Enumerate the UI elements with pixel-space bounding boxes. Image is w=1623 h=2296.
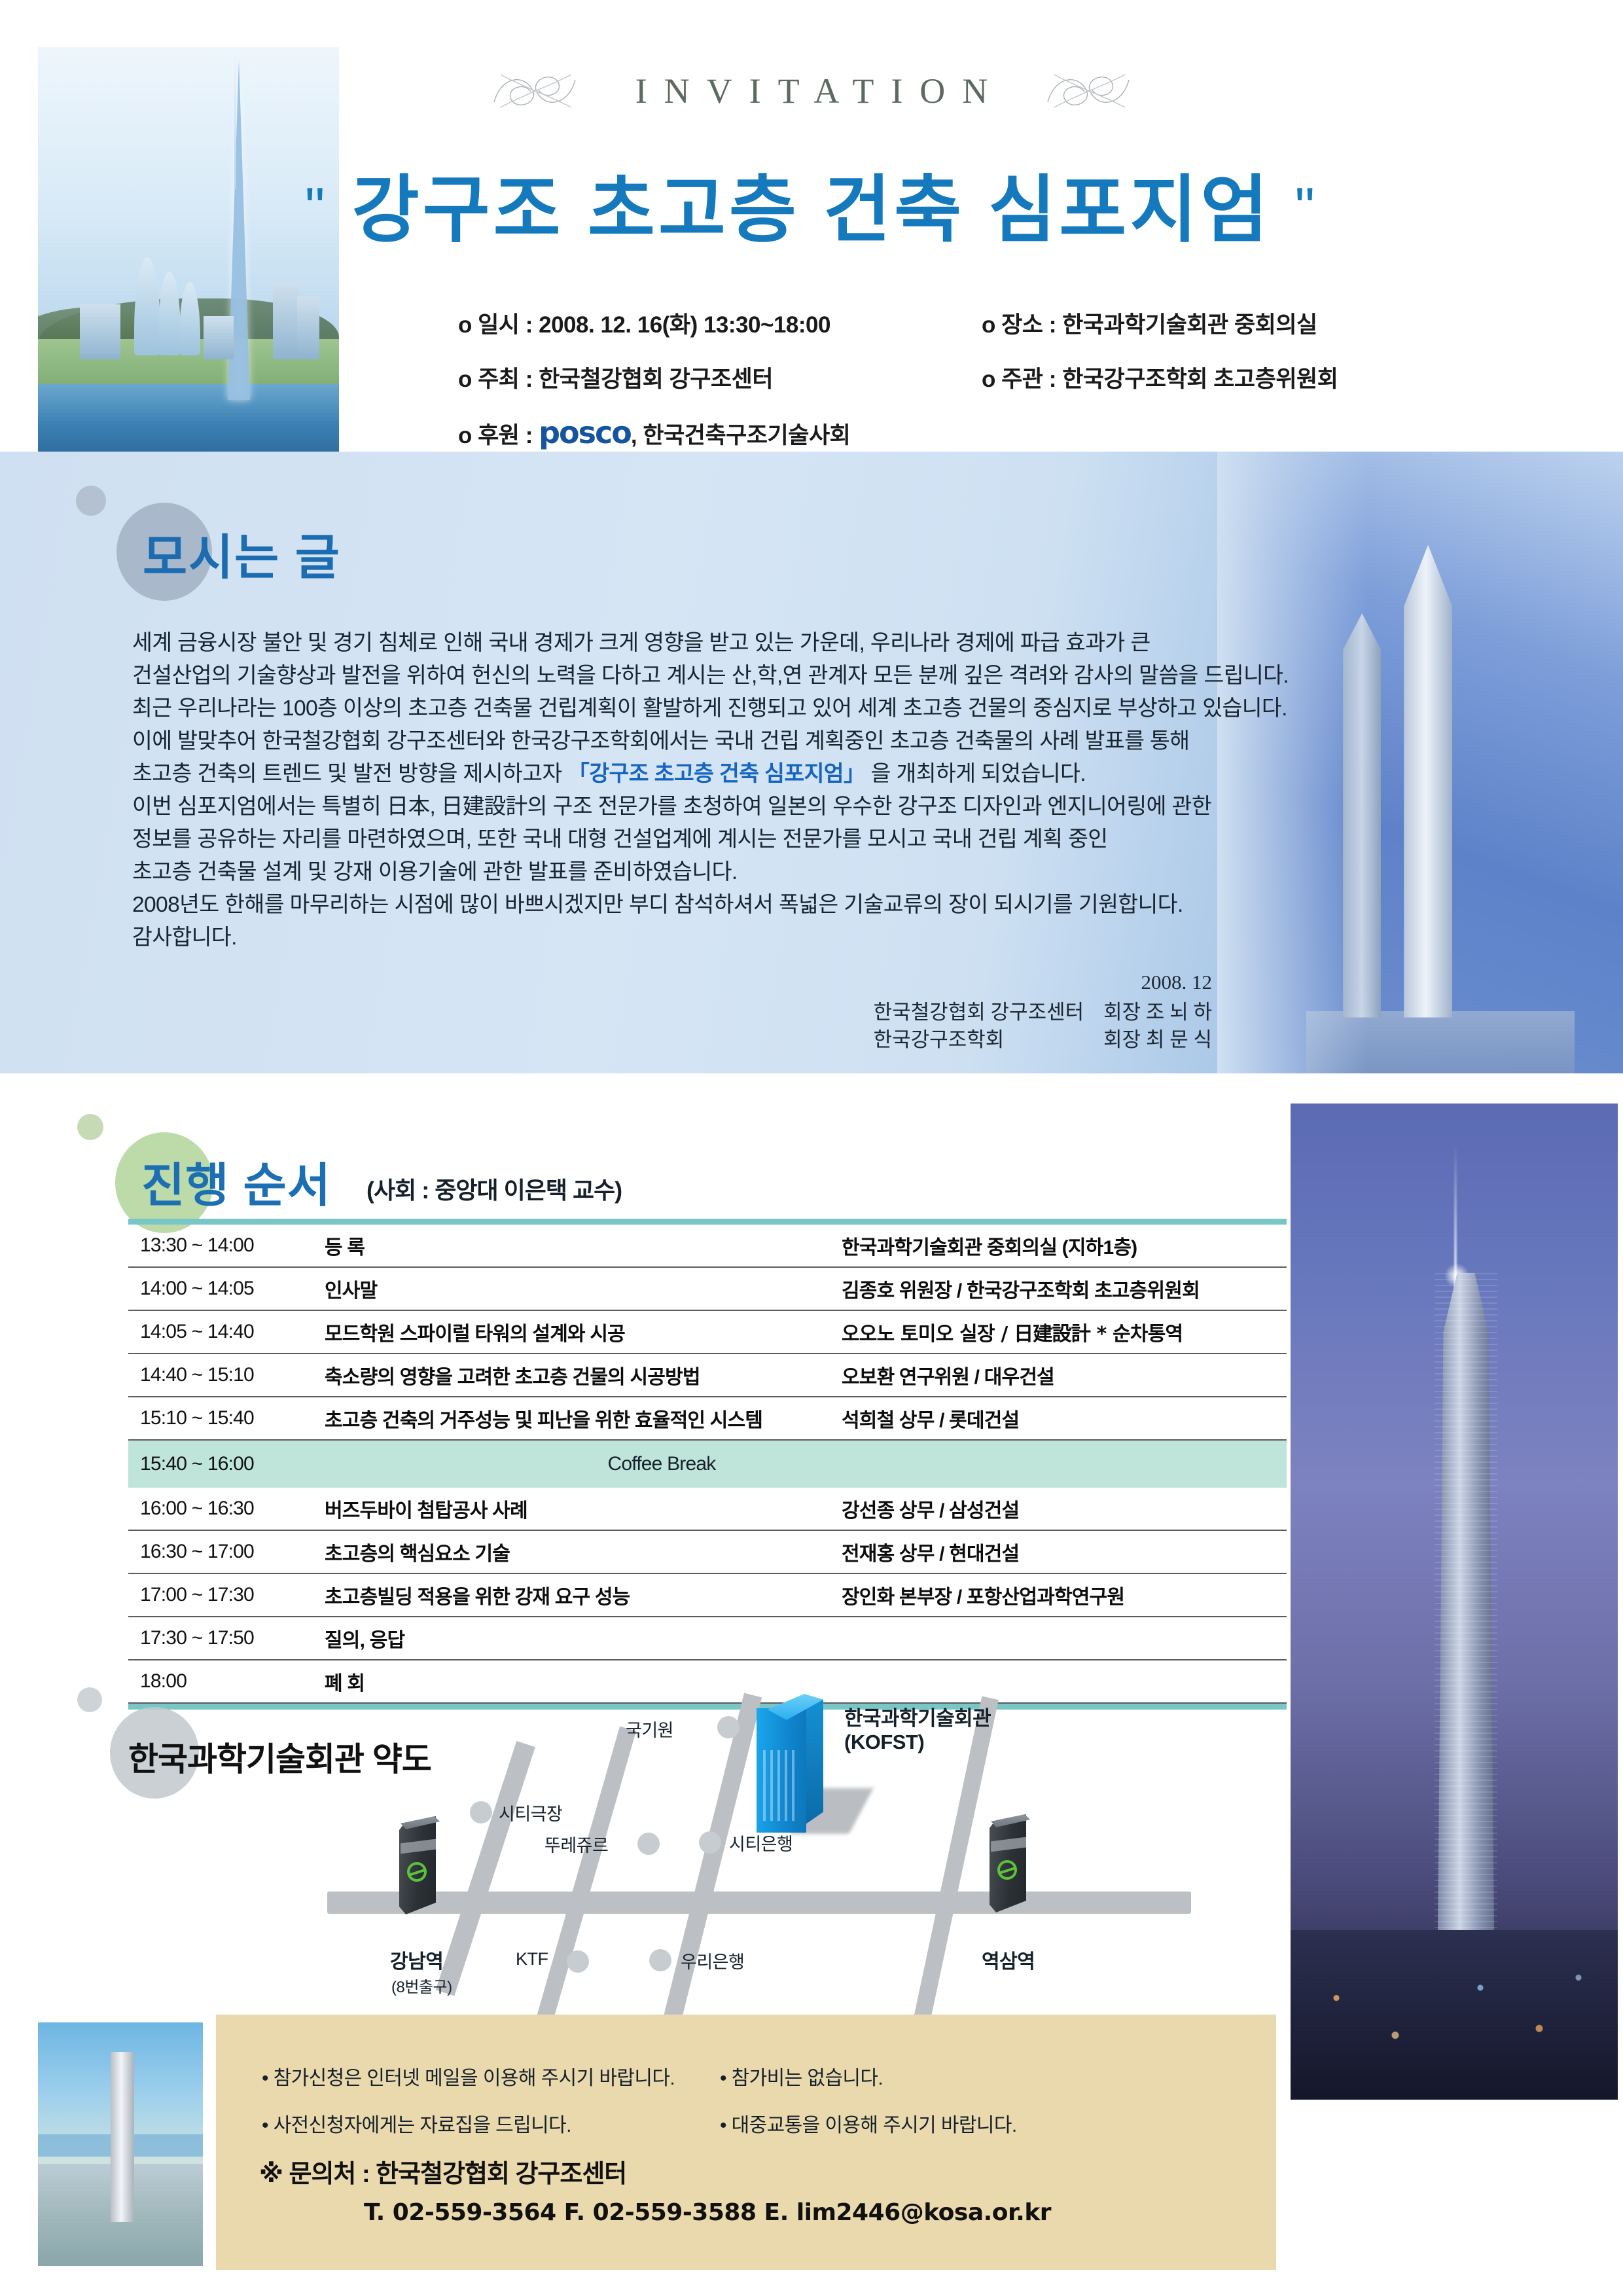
row-time: 13:30 ~ 14:00 bbox=[128, 1234, 325, 1257]
table-row: 14:40 ~ 15:10 축소량의 영향을 고려한 초고층 건물의 시공방법 … bbox=[128, 1354, 1287, 1397]
row-speaker: 석희철 상무 / 롯데건설 bbox=[842, 1404, 1287, 1433]
greeting-line: 최근 우리나라는 100층 이상의 초고층 건축물 건립계획이 활발하게 진행되… bbox=[132, 692, 1153, 725]
greeting-line: 이번 심포지엄에서는 특별히 日本, 日建設計의 구조 전문가를 초청하여 일본… bbox=[132, 791, 1153, 823]
posco-logo: posco bbox=[539, 415, 631, 450]
row-speaker: 오오노 토미오 실장 / 日建設計 * 순차통역 bbox=[842, 1318, 1287, 1346]
page-title: " 강구조 초고층 건축 심포지엄 " bbox=[0, 151, 1623, 257]
table-row: 14:05 ~ 14:40 모드학원 스파이럴 타워의 설계와 시공 오오노 토… bbox=[128, 1311, 1287, 1354]
map-road-main bbox=[327, 1892, 1191, 1914]
highlight-prefix: 초고층 건축의 트렌드 및 발전 방향을 제시하고자 bbox=[132, 762, 567, 786]
poi-dot-gukgiwon bbox=[717, 1716, 740, 1738]
signature-name: 회장 조 뇌 하 bbox=[1084, 999, 1212, 1026]
table-row: 16:30 ~ 17:00 초고층의 핵심요소 기술 전재홍 상무 / 현대건설 bbox=[128, 1531, 1287, 1574]
decor-dot-small bbox=[76, 486, 106, 516]
poi-dot-city-theater bbox=[470, 1801, 492, 1823]
greeting-line: 건설산업의 기술향상과 발전을 위하여 헌신의 노력을 다하고 계시는 산,학,… bbox=[132, 660, 1153, 692]
row-time: 17:30 ~ 17:50 bbox=[128, 1627, 325, 1649]
meta-sponsor: o 후원 : posco, 한국건축구조기술사회 bbox=[458, 415, 1544, 450]
row-time: 18:00 bbox=[128, 1670, 325, 1693]
map-label-venue: 한국과학기술회관 bbox=[844, 1702, 991, 1731]
event-meta-grid: o 일시 : 2008. 12. 16(화) 13:30~18:00 o 장소 … bbox=[458, 306, 1544, 450]
table-row: 17:00 ~ 17:30 초고층빌딩 적용을 위한 강재 요구 성능 장인화 … bbox=[128, 1574, 1287, 1617]
schedule-table: 13:30 ~ 14:00 등 록 한국과학기술회관 중회의실 (지하1층) 1… bbox=[128, 1219, 1287, 1710]
location-map: 국기원 한국과학기술회관 (KOFST) 시티극장 뚜레쥬르 시티은행 KTF … bbox=[327, 1676, 1270, 2042]
map-label-tous-les-jours: 뚜레쥬르 bbox=[544, 1831, 608, 1857]
signature-name: 회장 최 문 식 bbox=[1084, 1026, 1212, 1054]
row-topic: 인사말 bbox=[325, 1274, 842, 1303]
signature-block: 2008. 12 한국철강협회 강구조센터 회장 조 뇌 하 한국강구조학회 회… bbox=[874, 969, 1212, 1054]
meta-place: o 장소 : 한국과학기술회관 중회의실 bbox=[982, 306, 1544, 340]
greeting-line-highlighted: 초고층 건축의 트렌드 및 발전 방향을 제시하고자 「강구조 초고층 건축 심… bbox=[132, 758, 1153, 791]
row-topic: 모드학원 스파이럴 타워의 설계와 시공 bbox=[325, 1318, 842, 1346]
map-label-ktf: KTF bbox=[516, 1949, 548, 1969]
map-label-yeoksam-station: 역삼역 bbox=[982, 1945, 1035, 1974]
footer-contact-tel: T. 02-559-3564 F. 02-559-3588 E. lim2446… bbox=[364, 2199, 1051, 2226]
decor-dot-small bbox=[77, 1114, 103, 1140]
greeting-heading: 모시는 글 bbox=[143, 518, 341, 588]
row-speaker: 전재홍 상무 / 현대건설 bbox=[842, 1537, 1287, 1566]
row-speaker: 김종호 위원장 / 한국강구조학회 초고층위원회 bbox=[842, 1274, 1287, 1303]
footer-note: 대중교통을 이용해 주시기 바랍니다. bbox=[720, 2109, 1178, 2138]
table-top-rule bbox=[128, 1219, 1287, 1225]
row-time: 16:30 ~ 17:00 bbox=[128, 1541, 325, 1563]
highlight-suffix: 을 개최하게 되었습니다. bbox=[865, 762, 1086, 786]
footer-note: 참가신청은 인터넷 메일을 이용해 주시기 바랍니다. bbox=[262, 2062, 720, 2090]
map-road-vertical-2 bbox=[535, 1727, 637, 2027]
poi-dot-citibank bbox=[699, 1831, 721, 1854]
yeoksam-station-marker bbox=[990, 1814, 1026, 1912]
greeting-line: 감사합니다. bbox=[132, 922, 1153, 954]
footer-contact-label: ※ 문의처 : 한국철강협회 강구조센터 bbox=[259, 2153, 626, 2189]
footer-notes-grid: 참가신청은 인터넷 메일을 이용해 주시기 바랍니다. 참가비는 없습니다. 사… bbox=[262, 2062, 1243, 2138]
meta-organizer: o 주관 : 한국강구조학회 초고층위원회 bbox=[982, 361, 1544, 394]
row-time: 15:10 ~ 15:40 bbox=[128, 1407, 325, 1429]
flourish-left-icon bbox=[489, 63, 580, 119]
signature-row: 한국철강협회 강구조센터 회장 조 뇌 하 bbox=[874, 999, 1212, 1026]
table-row: 14:00 ~ 14:05 인사말 김종호 위원장 / 한국강구조학회 초고층위… bbox=[128, 1268, 1287, 1311]
meta-sponsor-prefix: o 후원 : bbox=[458, 423, 539, 448]
map-label-gangnam-exit: (8번출구) bbox=[391, 1974, 452, 1997]
row-speaker: 오보환 연구위원 / 대우건설 bbox=[842, 1361, 1287, 1390]
footer-tower-image bbox=[38, 2022, 203, 2266]
map-road-vertical-4 bbox=[911, 1696, 999, 2033]
row-time: 15:40 ~ 16:00 bbox=[128, 1453, 325, 1475]
row-time: 14:05 ~ 14:40 bbox=[128, 1321, 325, 1343]
signature-row: 한국강구조학회 회장 최 문 식 bbox=[874, 1026, 1212, 1054]
tower-rendering-image bbox=[1217, 452, 1623, 1073]
map-label-gangnam-station: 강남역 bbox=[390, 1945, 443, 1974]
row-topic: 초고층빌딩 적용을 위한 강재 요구 성능 bbox=[325, 1581, 842, 1609]
row-time: 17:00 ~ 17:30 bbox=[128, 1584, 325, 1606]
decor-dot-small bbox=[77, 1687, 102, 1712]
title-open-quote: " bbox=[305, 177, 329, 240]
schedule-heading: 진행 순서 bbox=[141, 1147, 331, 1215]
kofst-building-icon bbox=[746, 1690, 825, 1834]
poi-dot-ktf bbox=[567, 1950, 589, 1973]
gangnam-station-marker bbox=[399, 1816, 436, 1914]
night-tower-image bbox=[1291, 1103, 1618, 2100]
map-label-citibank: 시티은행 bbox=[729, 1830, 793, 1856]
table-row: 16:00 ~ 16:30 버즈두바이 첨탑공사 사례 강선종 상무 / 삼성건… bbox=[128, 1488, 1287, 1531]
map-label-city-theater: 시티극장 bbox=[499, 1800, 562, 1825]
footer-info-box bbox=[216, 2015, 1276, 2270]
greeting-line: 세계 금융시장 불안 및 경기 침체로 인해 국내 경제가 크게 영향을 받고 … bbox=[132, 627, 1153, 660]
row-topic: 초고층의 핵심요소 기술 bbox=[325, 1537, 842, 1566]
meta-host: o 주최 : 한국철강협회 강구조센터 bbox=[458, 361, 982, 394]
row-time: 16:00 ~ 16:30 bbox=[128, 1498, 325, 1520]
greeting-line: 초고층 건축물 설계 및 강재 이용기술에 관한 발표를 준비하였습니다. bbox=[132, 856, 1153, 889]
schedule-moderator: (사회 : 중앙대 이은택 교수) bbox=[366, 1172, 622, 1206]
invitation-heading-row: INVITATION bbox=[0, 63, 1623, 122]
table-row: 17:30 ~ 17:50 질의, 응답 bbox=[128, 1617, 1287, 1660]
flourish-right-icon bbox=[1043, 63, 1134, 119]
table-row-coffee-break: 15:40 ~ 16:00 Coffee Break bbox=[128, 1441, 1287, 1488]
map-label-woori-bank: 우리은행 bbox=[681, 1948, 744, 1973]
signature-date: 2008. 12 bbox=[874, 969, 1212, 996]
map-label-venue-en: (KOFST) bbox=[844, 1731, 924, 1754]
row-topic: 버즈두바이 첨탑공사 사례 bbox=[325, 1494, 842, 1523]
row-topic: 등 록 bbox=[325, 1231, 842, 1260]
row-time: 14:40 ~ 15:10 bbox=[128, 1364, 325, 1386]
footer-note: 사전신청자에게는 자료집을 드립니다. bbox=[262, 2109, 720, 2138]
map-label-gukgiwon: 국기원 bbox=[626, 1716, 673, 1742]
meta-datetime: o 일시 : 2008. 12. 16(화) 13:30~18:00 bbox=[458, 306, 982, 340]
table-row: 13:30 ~ 14:00 등 록 한국과학기술회관 중회의실 (지하1층) bbox=[128, 1225, 1287, 1268]
signature-org: 한국강구조학회 bbox=[874, 1026, 1084, 1054]
row-speaker: 한국과학기술회관 중회의실 (지하1층) bbox=[842, 1231, 1287, 1260]
greeting-line: 이에 발맞추어 한국철강협회 강구조센터와 한국강구조학회에서는 국내 건립 계… bbox=[132, 725, 1153, 758]
row-topic: 축소량의 영향을 고려한 초고층 건물의 시공방법 bbox=[325, 1361, 842, 1390]
signature-org: 한국철강협회 강구조센터 bbox=[874, 999, 1084, 1026]
poi-dot-woori-bank bbox=[649, 1949, 671, 1971]
footer-note: 참가비는 없습니다. bbox=[720, 2062, 1178, 2090]
greeting-line: 2008년도 한해를 마무리하는 시점에 많이 바쁘시겠지만 부디 참석하셔서 … bbox=[132, 889, 1153, 922]
row-topic: Coffee Break bbox=[325, 1453, 1287, 1475]
title-text: 강구조 초고층 건축 심포지엄 bbox=[352, 169, 1272, 251]
row-speaker: 장인화 본부장 / 포항산업과학연구원 bbox=[842, 1581, 1287, 1609]
header-section: INVITATION " 강구조 초고층 건축 심포지엄 " o 일시 : 20… bbox=[0, 0, 1623, 452]
invitation-label: INVITATION bbox=[618, 71, 1005, 111]
row-speaker: 강선종 상무 / 삼성건설 bbox=[842, 1494, 1287, 1523]
greeting-body: 세계 금융시장 불안 및 경기 침체로 인해 국내 경제가 크게 영향을 받고 … bbox=[132, 627, 1153, 954]
greeting-line: 정보를 공유하는 자리를 마련하였으며, 또한 국내 대형 건설업계에 계시는 … bbox=[132, 823, 1153, 856]
row-topic: 질의, 응답 bbox=[325, 1624, 842, 1653]
symposium-title-highlight: 「강구조 초고층 건축 심포지엄」 bbox=[567, 762, 865, 786]
title-close-quote: " bbox=[1295, 177, 1319, 240]
row-time: 14:00 ~ 14:05 bbox=[128, 1278, 325, 1300]
row-topic: 초고층 건축의 거주성능 및 피난을 위한 효율적인 시스템 bbox=[325, 1404, 842, 1433]
meta-sponsor-suffix: , 한국건축구조기술사회 bbox=[631, 423, 850, 448]
table-row: 15:10 ~ 15:40 초고층 건축의 거주성능 및 피난을 위한 효율적인… bbox=[128, 1397, 1287, 1441]
poi-dot-tous-les-jours bbox=[637, 1833, 660, 1855]
